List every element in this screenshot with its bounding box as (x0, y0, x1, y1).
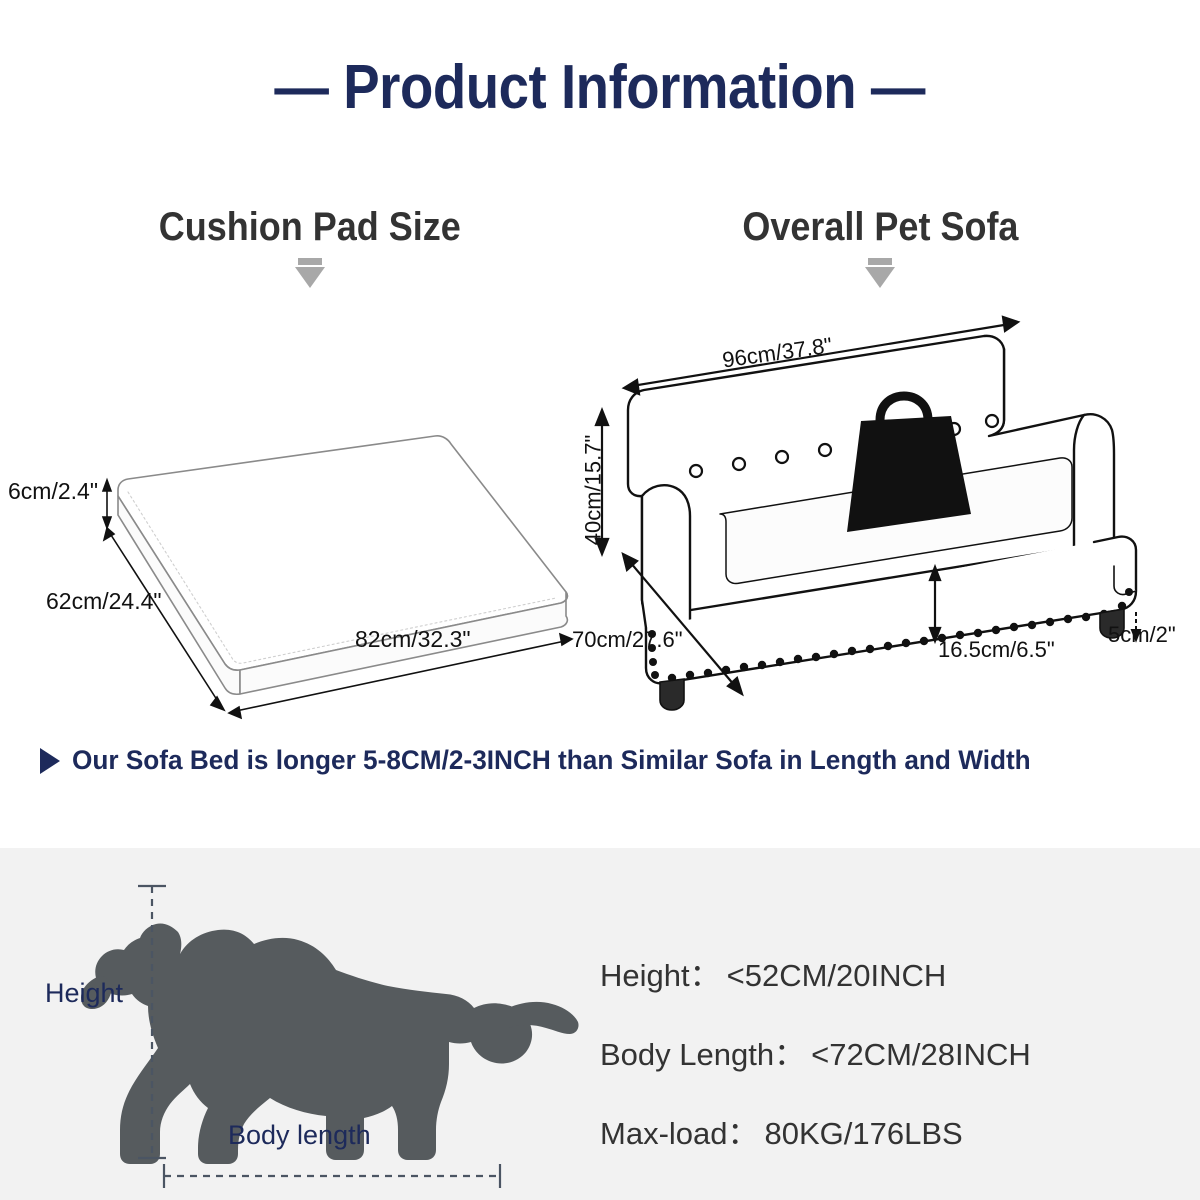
cushion-width-label: 82cm/32.3" (355, 626, 471, 653)
spec-height-key: Height： (600, 958, 721, 993)
page-title-text: — Product Information — (275, 52, 926, 123)
tagline-text: Our Sofa Bed is longer 5-8CM/2-3INCH tha… (72, 745, 1031, 776)
play-triangle-icon (40, 748, 60, 774)
section-heading-sofa: Overall Pet Sofa (620, 205, 1140, 288)
double-down-arrow-icon (293, 258, 327, 288)
diagram-area: 6cm/2.4" 62cm/24.4" 82cm/32.3" (0, 300, 1200, 720)
sofa-leg-height-label: 5cm/2" (1108, 622, 1176, 648)
section-heading-sofa-label: Overall Pet Sofa (742, 205, 1018, 250)
sofa-height-label: 40cm/15.7" (580, 435, 606, 546)
cushion-depth-label: 62cm/24.4" (46, 588, 162, 615)
cushion-pad-diagram (0, 300, 600, 720)
section-heading-cushion: Cushion Pad Size (50, 205, 570, 288)
tagline: Our Sofa Bed is longer 5-8CM/2-3INCH tha… (40, 745, 1170, 776)
body-length-label: Body length (228, 1120, 371, 1151)
body-length-dimension-line (164, 1164, 500, 1188)
spec-row-body-length: Body Length：<72CM/28INCH (600, 1029, 1160, 1074)
spec-row-height: Height：<52CM/20INCH (600, 950, 1160, 995)
page-title: — Product Information — (0, 52, 1200, 123)
spec-row-max-load: Max-load：80KG/176LBS (600, 1108, 1160, 1153)
spec-list: Height：<52CM/20INCH Body Length：<72CM/28… (600, 950, 1160, 1187)
height-label: Height (45, 978, 123, 1009)
section-heading-cushion-label: Cushion Pad Size (159, 205, 461, 250)
spec-height-value: <52CM/20INCH (727, 958, 947, 993)
spec-max-load-key: Max-load： (600, 1116, 759, 1151)
spec-body-length-value: <72CM/28INCH (811, 1037, 1031, 1072)
spec-max-load-value: 80KG/176LBS (765, 1116, 963, 1151)
weight-tag-line2: 176LBS (864, 780, 974, 810)
pet-sofa-diagram (580, 300, 1200, 720)
cushion-thickness-label: 6cm/2.4" (8, 478, 98, 505)
sofa-seat-clearance-label: 16.5cm/6.5" (938, 637, 1055, 663)
double-down-arrow-icon (863, 258, 897, 288)
spec-body-length-key: Body Length： (600, 1037, 805, 1072)
sofa-depth-label: 70cm/27.6" (572, 627, 683, 653)
product-information-infographic: — Product Information — Cushion Pad Size… (0, 0, 1200, 1200)
